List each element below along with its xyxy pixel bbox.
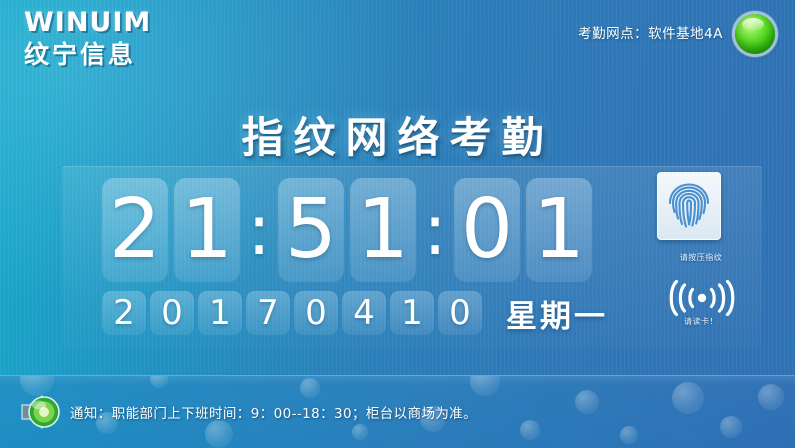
- date-display: 2 0 1 7 0 4 1 0 星期一: [102, 289, 614, 337]
- notice-text: 通知：职能部门上下班时间：9：00--18：30；柜台以商场为准。: [70, 402, 477, 422]
- announcement-speaker-icon: [18, 392, 64, 432]
- weekday-label: 星期一: [500, 291, 614, 335]
- date-digit: 0: [294, 291, 338, 335]
- company-logo: WINUIM 纹宁信息: [24, 8, 194, 70]
- time-digit: 0: [454, 178, 520, 282]
- header-bar: WINUIM 纹宁信息 考勤网点：软件基地4A: [0, 0, 795, 78]
- logo-chinese-name: 纹宁信息: [24, 40, 194, 70]
- time-digit: 1: [174, 178, 240, 282]
- time-digit: 5: [278, 178, 344, 282]
- rfid-wave-icon: [667, 280, 737, 316]
- status-led-green-icon: [735, 14, 775, 54]
- page-title: 指纹网络考勤: [0, 104, 795, 165]
- date-digit: 2: [102, 291, 146, 335]
- date-digit: 7: [246, 291, 290, 335]
- logo-wordmark: WINUIM: [24, 8, 194, 38]
- status-indicator: [735, 14, 777, 56]
- fingerprint-icon: [667, 181, 711, 231]
- time-digit: 1: [526, 178, 592, 282]
- card-reader-button[interactable]: [667, 280, 737, 316]
- time-display: 2 1 : 5 1 : 0 1: [102, 175, 598, 285]
- date-digit: 0: [150, 291, 194, 335]
- date-digit: 0: [438, 291, 482, 335]
- date-digit: 4: [342, 291, 386, 335]
- card-reader-caption: 请读卡！: [645, 316, 757, 327]
- attendance-kiosk-screen: WINUIM 纹宁信息 考勤网点：软件基地4A 指纹网络考勤 2 1 : 5 1…: [0, 0, 795, 448]
- date-digit: 1: [198, 291, 242, 335]
- site-label: 考勤网点：软件基地4A: [578, 22, 723, 42]
- time-separator: :: [422, 178, 448, 282]
- fingerprint-caption: 请按压指纹: [645, 252, 757, 263]
- notice-bar: 通知：职能部门上下班时间：9：00--18：30；柜台以商场为准。: [0, 375, 795, 448]
- time-digit: 2: [102, 178, 168, 282]
- fingerprint-scanner-button[interactable]: [657, 172, 721, 240]
- device-column: 请按压指纹 请读卡！: [645, 172, 757, 342]
- time-separator: :: [246, 178, 272, 282]
- date-digit: 1: [390, 291, 434, 335]
- time-digit: 1: [350, 178, 416, 282]
